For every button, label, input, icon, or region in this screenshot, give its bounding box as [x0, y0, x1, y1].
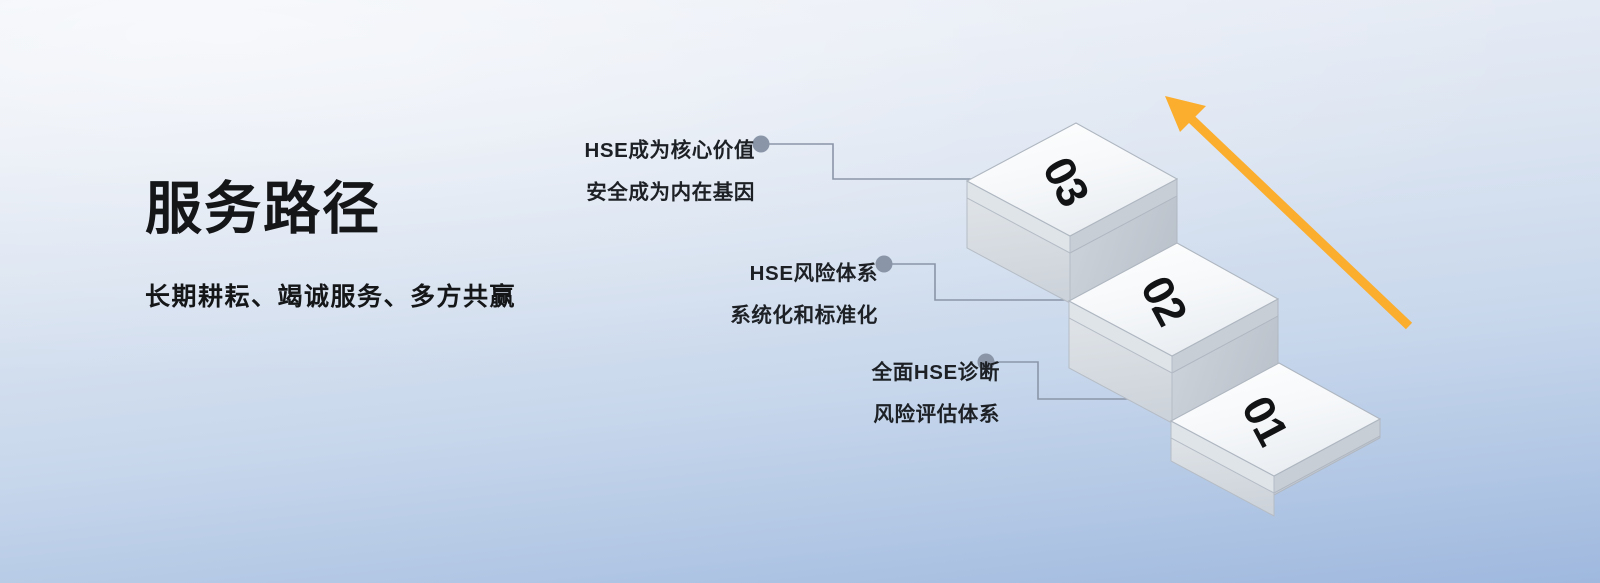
step-caption-02-line1: HSE风险体系: [730, 253, 878, 295]
step-caption-01: 全面HSE诊断 风险评估体系: [872, 352, 1000, 436]
step-caption-02-line2: 系统化和标准化: [730, 295, 878, 337]
upward-growth-arrow: [1165, 96, 1409, 326]
step-caption-02: HSE风险体系 系统化和标准化: [730, 253, 878, 337]
step-caption-03: HSE成为核心价值 安全成为内在基因: [584, 130, 755, 214]
step-caption-03-line1: HSE成为核心价值: [584, 130, 755, 172]
page-title: 服务路径: [145, 178, 516, 242]
step-caption-01-line1: 全面HSE诊断: [872, 352, 1000, 394]
step-caption-01-line2: 风险评估体系: [872, 394, 1000, 436]
headline-block: 服务路径 长期耕耘、竭诚服务、多方共赢: [145, 178, 516, 312]
service-path-infographic: 服务路径 长期耕耘、竭诚服务、多方共赢 HSE成为核心价值 安全成为内在基因 H…: [0, 0, 1600, 583]
step-caption-03-line2: 安全成为内在基因: [584, 172, 755, 214]
page-subtitle: 长期耕耘、竭诚服务、多方共赢: [145, 242, 516, 312]
arrow-shaft: [1184, 112, 1409, 326]
